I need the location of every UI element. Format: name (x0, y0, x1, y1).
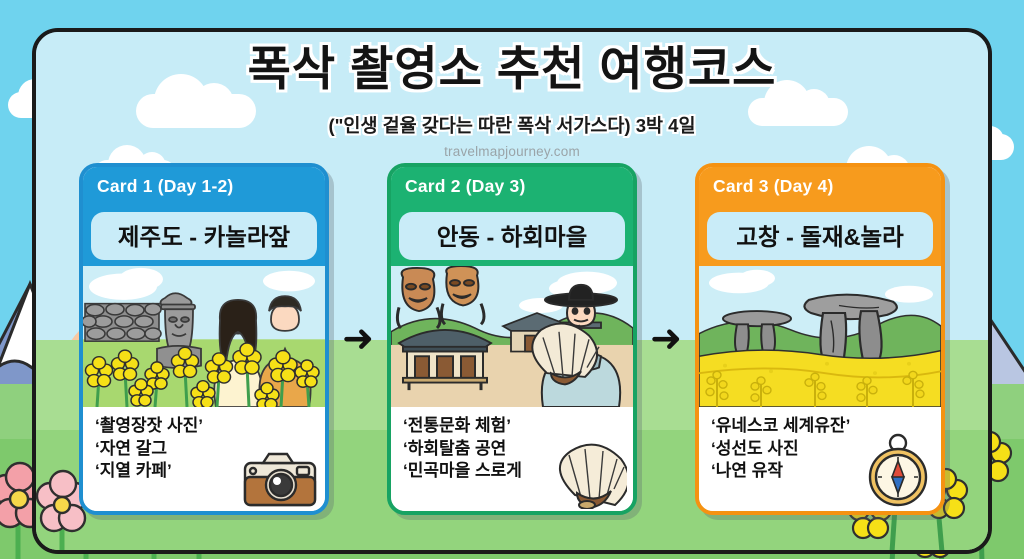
card-2-title: 안동 - 하회마을 (399, 212, 625, 260)
card-2-bullet-3: ‘민곡마을 스로게 (403, 460, 522, 483)
card-3-title-wrap: 고창 - 돌재&놀라 (699, 205, 941, 266)
card-1-bullets: ‘촬영장잣 사진’ ‘자연 갈그 ‘지열 카페’ (95, 415, 203, 483)
arrow-2-to-3: ➜ (637, 163, 695, 515)
page-subtitle: ("인생 겉율 갖다는 따란 폭삭 서가스다) 3박 4일 (0, 112, 1024, 138)
card-1[interactable]: Card 1 (Day 1-2) 제주도 - 카놀라잪 (79, 163, 329, 515)
card-1-title-wrap: 제주도 - 카놀라잪 (83, 205, 325, 266)
card-3-title: 고창 - 돌재&놀라 (707, 212, 933, 260)
arrow-1-to-2: ➜ (329, 163, 387, 515)
card-2-bullets: ‘전통문화 체험’ ‘하회탈춤 공연 ‘민곡마을 스로게 (403, 415, 522, 483)
card-2-bullet-1: ‘전통문화 체험’ (403, 415, 522, 438)
card-2-title-wrap: 안동 - 하회마을 (391, 205, 633, 266)
card-1-bullet-2: ‘자연 갈그 (95, 438, 203, 461)
card-2[interactable]: Card 2 (Day 3) 안동 - 하회마을 (387, 163, 637, 515)
card-2-footer: ‘전통문화 체험’ ‘하회탈춤 공연 ‘민곡마을 스로게 (391, 407, 633, 511)
card-2-header: Card 2 (Day 3) (391, 167, 633, 205)
card-3[interactable]: Card 3 (Day 4) 고창 - 돌재&놀라 (695, 163, 945, 515)
cards-row: Card 1 (Day 1-2) 제주도 - 카놀라잪 (0, 163, 1024, 515)
card-3-bullet-3: ‘나연 유작 (711, 460, 850, 483)
card-3-illustration (699, 266, 941, 407)
card-1-bullet-1: ‘촬영장잣 사진’ (95, 415, 203, 438)
header: 폭삭 촬영소 추천 여행코스 ("인생 겉율 갖다는 따란 폭삭 서가스다) 3… (0, 30, 1024, 159)
card-2-bullet-2: ‘하회탈춤 공연 (403, 438, 522, 461)
card-1-header: Card 1 (Day 1-2) (83, 167, 325, 205)
compass-icon (861, 431, 935, 509)
card-1-bullet-3: ‘지열 카페’ (95, 460, 203, 483)
page-title: 폭삭 촬영소 추천 여행코스 (0, 30, 1024, 99)
card-3-footer: ‘유네스코 세계유잔’ ‘성선도 사진 ‘나연 유작 (699, 407, 941, 511)
card-2-illustration (391, 266, 633, 407)
watermark: travelmapjourney.com (0, 144, 1024, 159)
card-1-title: 제주도 - 카놀라잪 (91, 212, 317, 260)
card-3-bullets: ‘유네스코 세계유잔’ ‘성선도 사진 ‘나연 유작 (711, 415, 850, 483)
card-3-bullet-1: ‘유네스코 세계유잔’ (711, 415, 850, 438)
folding-fan-icon (545, 443, 627, 509)
card-1-footer: ‘촬영장잣 사진’ ‘자연 갈그 ‘지열 카페’ (83, 407, 325, 511)
card-3-bullet-2: ‘성선도 사진 (711, 438, 850, 461)
camera-icon (241, 447, 319, 509)
card-1-illustration (83, 266, 325, 407)
card-3-header: Card 3 (Day 4) (699, 167, 941, 205)
